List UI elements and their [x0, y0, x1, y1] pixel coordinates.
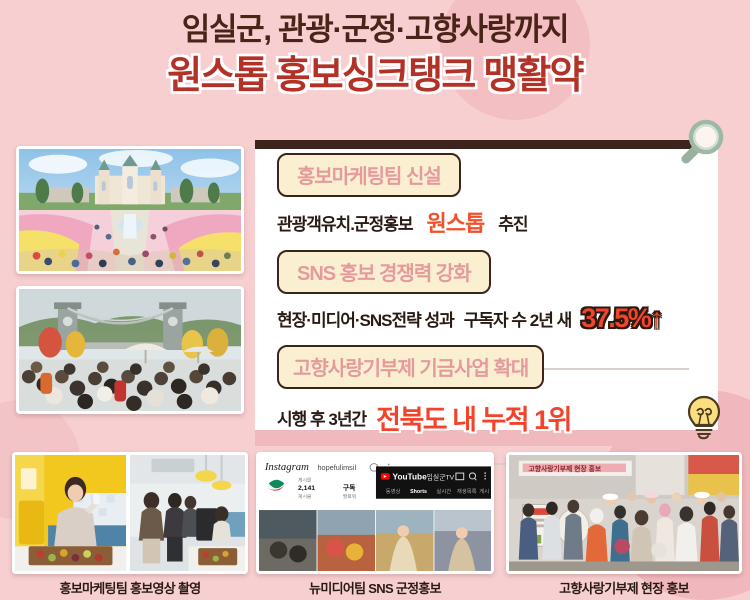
caption-left: 홍보마케팅팀 홍보영상 촬영 — [12, 578, 248, 597]
youtube-channel: 임실군TV — [427, 473, 455, 482]
section-2-highlight: 37.5%↑ — [581, 303, 662, 334]
section-1-detail-prefix: 관광객유치.군정홍보 — [277, 210, 412, 235]
title-line-2: 원스톱 홍보싱크탱크 맹활약 — [0, 52, 750, 100]
poster-root: 임실군, 관광·군정·고향사랑까지 원스톱 홍보싱크탱크 맹활약 홍보마케팅팀 … — [0, 0, 750, 600]
svg-text:실시간: 실시간 — [436, 487, 451, 495]
title-line-1: 임실군, 관광·군정·고향사랑까지 — [0, 10, 750, 50]
panel-top-bar — [255, 140, 718, 149]
content-panel: 홍보마케팅팀 신설 관광객유치.군정홍보 원스톱 추진 SNS 홍보 경쟁력 강… — [255, 140, 718, 430]
section-sns: SNS 홍보 경쟁력 강화 현장·미디어·SNS전략 성과 구독자 수 2년 새… — [255, 250, 718, 334]
section-2-detail: 현장·미디어·SNS전략 성과 구독자 수 2년 새 37.5%↑ — [277, 303, 718, 334]
poster-title: 임실군, 관광·군정·고향사랑까지 원스톱 홍보싱크탱크 맹활약 — [0, 10, 750, 100]
section-3-highlight: 전북도 내 누적 1위 — [376, 398, 571, 437]
caption-right: 고향사랑기부제 현장 홍보 — [506, 578, 742, 597]
section-3-detail: 시행 후 3년간 전북도 내 누적 1위 — [277, 398, 718, 437]
magnifier-icon — [672, 115, 728, 171]
section-3-detail-prefix: 시행 후 3년간 — [277, 405, 366, 430]
svg-text:동영상: 동영상 — [386, 487, 401, 495]
photo-street-promotion-crowd: 고향사랑기부제 현장 홍보 — [506, 452, 742, 574]
instagram-handle: hopefulimsil — [317, 463, 356, 472]
section-2-badge: SNS 홍보 경쟁력 강화 — [277, 250, 491, 294]
caption-middle: 뉴미디어팀 SNS 군정홍보 — [256, 578, 494, 597]
section-2-detail-prefix: 현장·미디어·SNS전략 성과 — [277, 306, 454, 331]
photo-festival-crowd-bridge — [16, 286, 244, 414]
section-3-badge: 고향사랑기부제 기금사업 확대 — [277, 345, 544, 389]
photo-promo-video-shoot-studio — [12, 452, 248, 574]
svg-text:게시물: 게시물 — [298, 493, 312, 500]
svg-text:팔로워: 팔로워 — [343, 493, 356, 500]
svg-text:고향사랑기부제 현장 홍보: 고향사랑기부제 현장 홍보 — [528, 464, 601, 473]
section-1-highlight: 원스톱 — [422, 206, 488, 238]
photo-sns-channels-screenshot: Instagram hopefulimsil 게시물 2,141 게시물 구독 … — [256, 452, 494, 574]
svg-text:게시: 게시 — [479, 487, 489, 495]
svg-text:2,141: 2,141 — [298, 485, 315, 492]
lightbulb-icon — [684, 394, 724, 442]
svg-text:재생목록: 재생목록 — [457, 487, 477, 495]
svg-text:Shorts: Shorts — [410, 489, 427, 495]
svg-text:구독: 구독 — [343, 483, 356, 492]
photo-flower-festival-garden — [16, 146, 244, 274]
section-2-detail-mid: 구독자 수 2년 새 — [464, 306, 571, 331]
svg-text:게시물: 게시물 — [298, 477, 312, 484]
section-1-detail-suffix: 추진 — [498, 210, 527, 235]
section-hometown-love: 고향사랑기부제 기금사업 확대 시행 후 3년간 전북도 내 누적 1위 — [255, 345, 718, 437]
section-1-detail: 관광객유치.군정홍보 원스톱 추진 — [277, 206, 718, 238]
section-1-badge: 홍보마케팅팀 신설 — [277, 153, 461, 197]
instagram-wordmark: Instagram — [264, 462, 309, 473]
section-marketing-team: 홍보마케팅팀 신설 관광객유치.군정홍보 원스톱 추진 — [255, 153, 718, 238]
youtube-wordmark: YouTube — [393, 473, 428, 482]
